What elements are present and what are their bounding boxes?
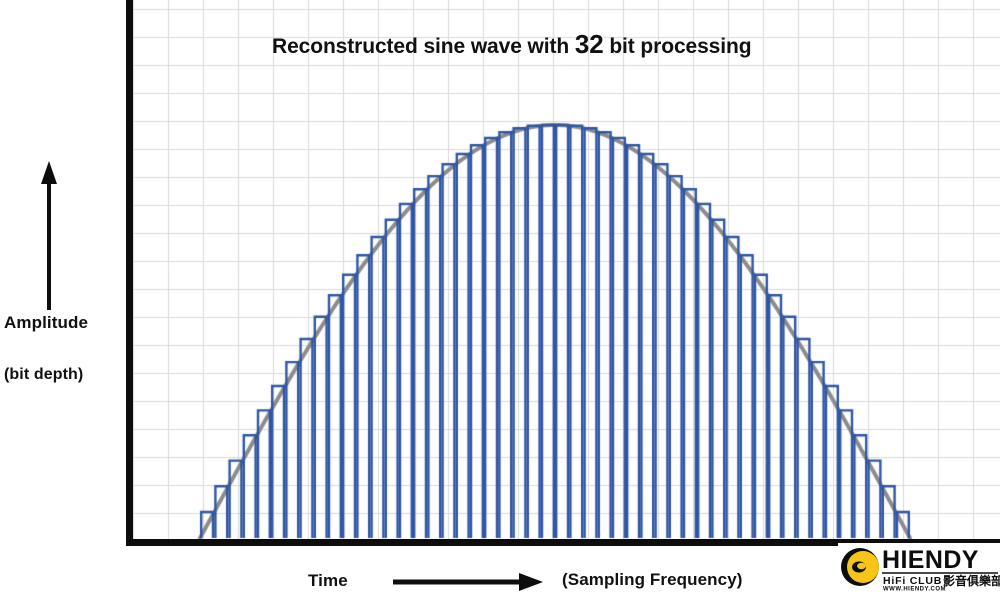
svg-text:WWW.HIENDY.COM: WWW.HIENDY.COM [883, 587, 946, 593]
svg-text:HiFi CLUB: HiFi CLUB [883, 575, 942, 587]
x-axis-label: Time [308, 571, 348, 591]
hiendy-disc-icon [841, 548, 879, 586]
hiendy-logo[interactable]: HIENDY HiFi CLUB 影音俱樂部 WWW.HIENDY.COM [838, 543, 1000, 592]
y-axis-line [126, 0, 133, 546]
svg-text:影音俱樂部: 影音俱樂部 [943, 573, 1000, 588]
x-axis-sublabel: (Sampling Frequency) [562, 570, 743, 590]
right-arrow-icon [393, 572, 543, 592]
up-arrow-icon [38, 160, 60, 310]
title-suffix: bit processing [604, 35, 752, 58]
svg-text:HIENDY: HIENDY [882, 546, 979, 574]
y-axis-sublabel: (bit depth) [4, 366, 83, 384]
waveform-plot [133, 0, 1000, 541]
y-axis-label: Amplitude [4, 313, 88, 333]
figure-canvas: Reconstructed sine wave with 32 bit proc… [0, 0, 1000, 592]
title-prefix: Reconstructed sine wave with [272, 35, 575, 58]
plot-area [133, 0, 1000, 541]
title-bit-depth: 32 [575, 29, 604, 59]
page-title: Reconstructed sine wave with 32 bit proc… [272, 29, 751, 60]
